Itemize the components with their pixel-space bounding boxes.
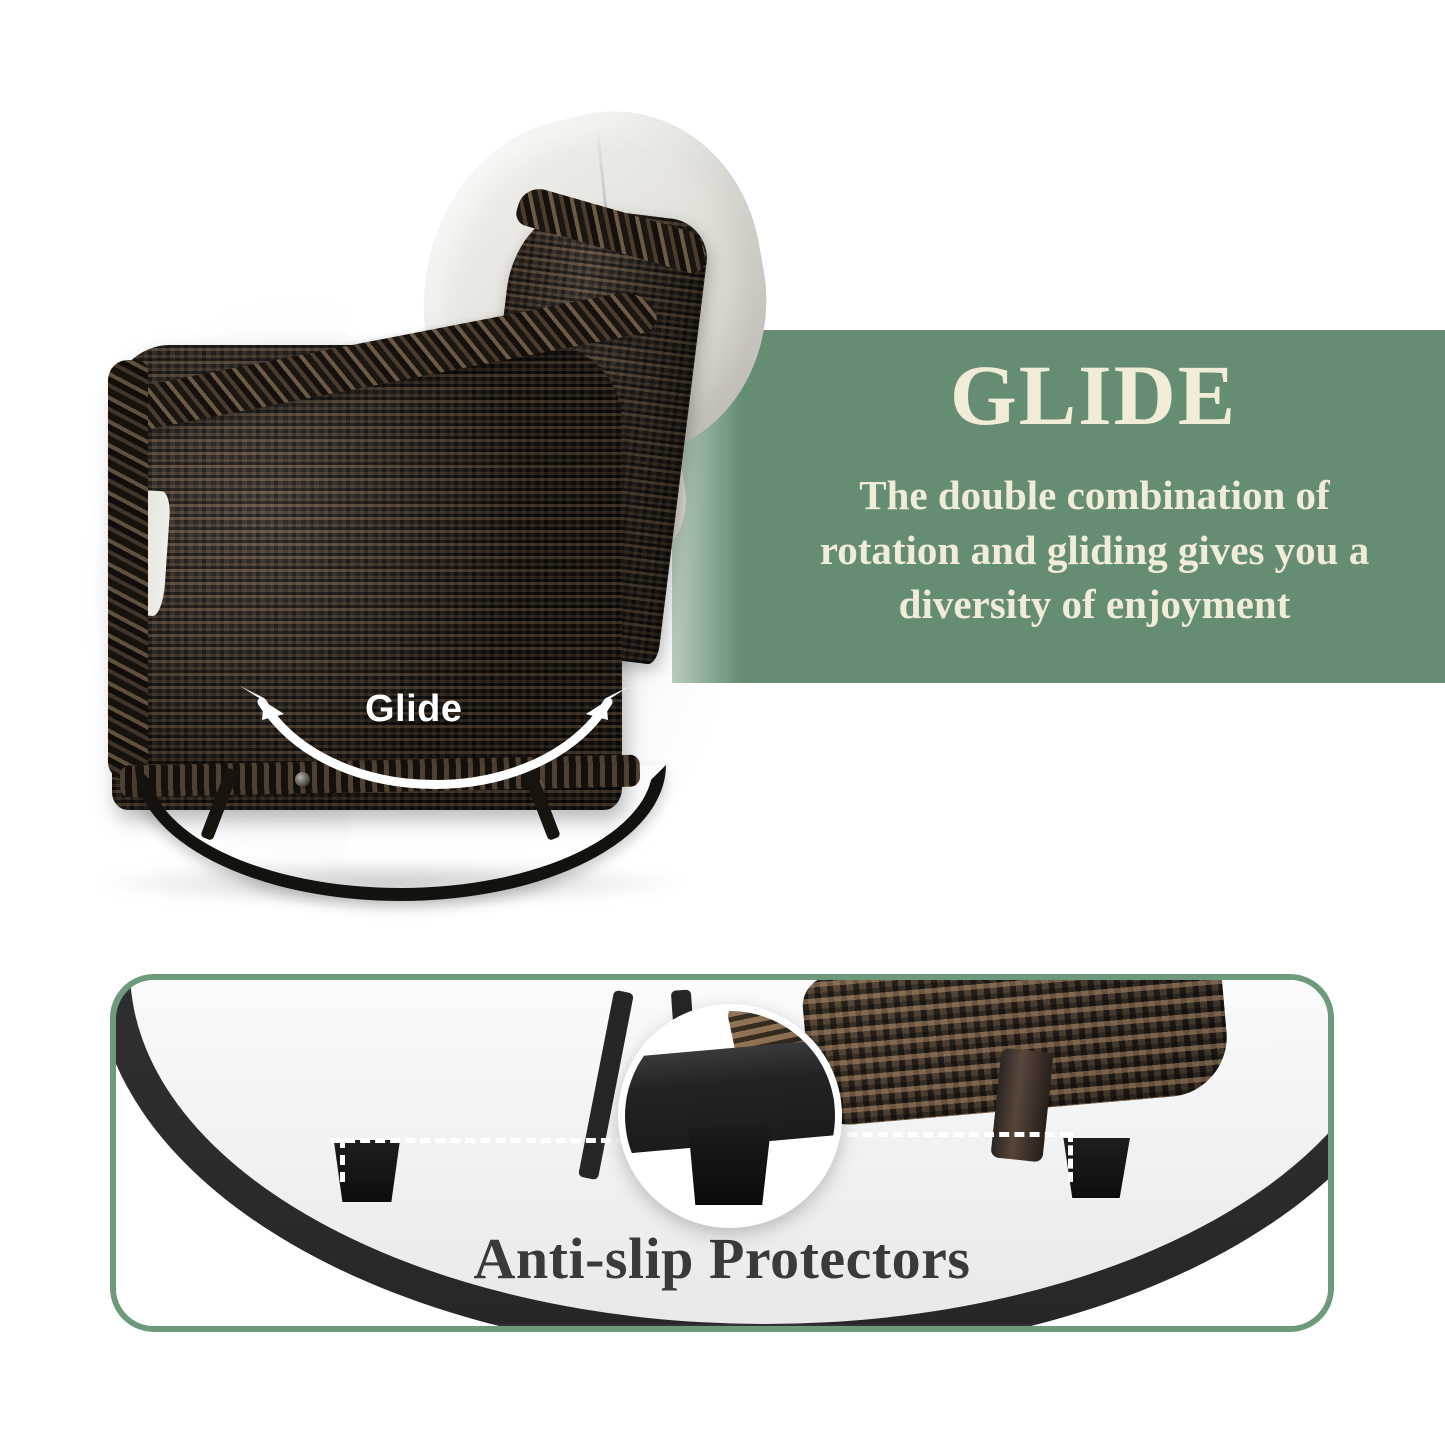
- product-feature-graphic: GLIDE The double combination of rotation…: [0, 0, 1445, 1445]
- glide-annotation: Glide: [210, 680, 660, 840]
- dashed-guide-right: [832, 1132, 1070, 1137]
- glide-label: Glide: [365, 688, 463, 731]
- banner-description: The double combination of rotation and g…: [795, 468, 1395, 632]
- dashed-tick-right: [1068, 1132, 1073, 1182]
- magnified-anti-slip-foot: [683, 1127, 771, 1205]
- magnifier-circle-callout: [618, 1004, 842, 1228]
- panel-caption: Anti-slip Protectors: [116, 1225, 1328, 1292]
- chair-product-photo: Glide: [60, 60, 780, 890]
- chair-front-braided-edge: [108, 360, 148, 780]
- dashed-tick-left: [340, 1138, 345, 1182]
- dashed-guide-left: [330, 1138, 626, 1143]
- banner-title: GLIDE: [950, 352, 1237, 438]
- glide-banner: GLIDE The double combination of rotation…: [672, 330, 1445, 683]
- top-feature-section: GLIDE The double combination of rotation…: [0, 0, 1445, 940]
